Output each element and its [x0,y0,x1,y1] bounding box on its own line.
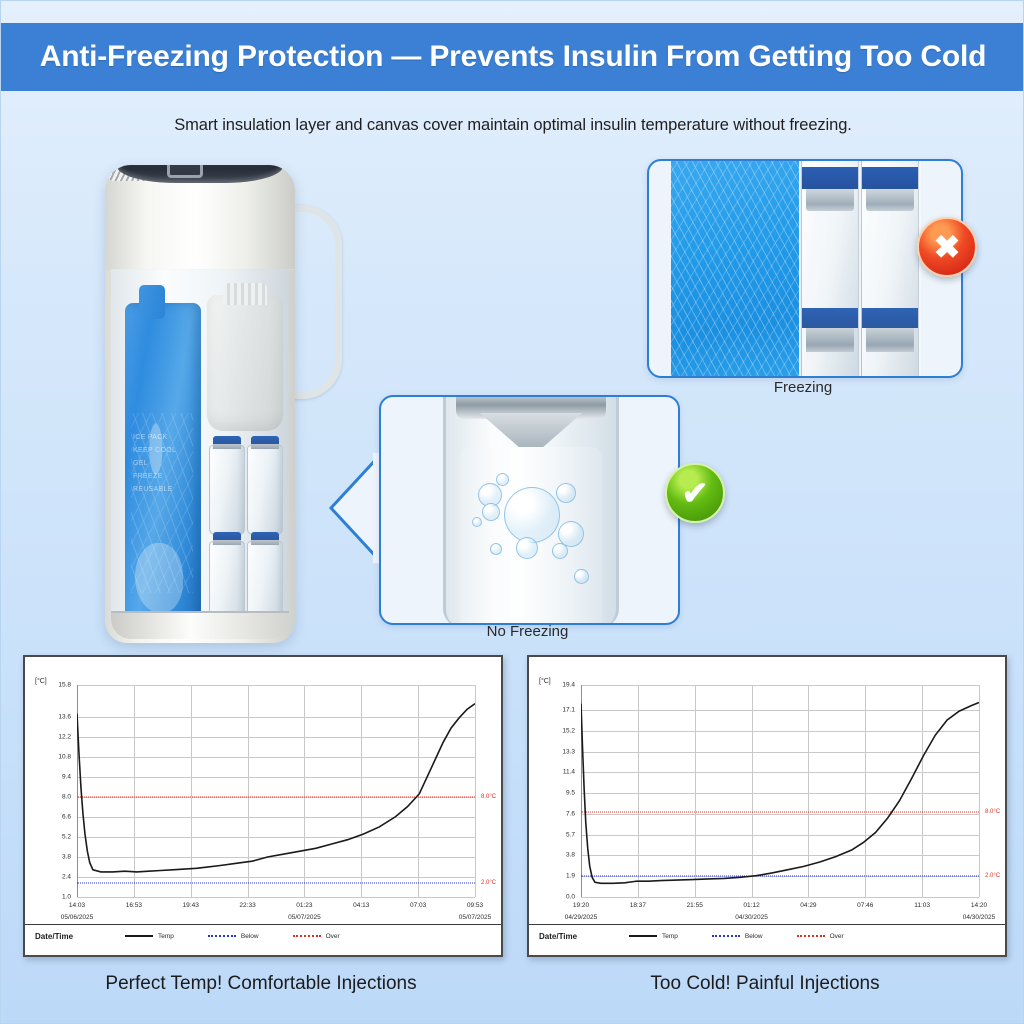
subtitle-text: Smart insulation layer and canvas cover … [1,116,1024,135]
legend-axis-title: Date/Time [539,932,629,941]
x-axis-tick-label: 16:53 [126,902,142,909]
bubble-icon [504,487,560,543]
gridline-vertical [475,685,476,897]
temperature-series-line [581,685,979,897]
y-axis-tick-label: 3.8 [62,853,71,860]
callout-arrow-icon [323,453,381,563]
temperature-chart-left: [°C]15.813.612.210.89.48.06.65.23.82.41.… [23,655,503,957]
no-freezing-panel [379,395,680,625]
cross-glyph: ✖ [934,231,961,263]
lid-clip-icon [167,165,203,178]
threshold-label-below: 2.0°C [985,873,1000,879]
y-axis-tick-label: 7.6 [566,810,575,817]
threshold-label-over: 8.0°C [481,794,496,800]
legend-swatch [797,935,825,937]
vial-cap [862,308,918,328]
vial-cap [862,167,918,189]
chart-plot-area: 19.417.115.213.311.49.57.65.73.81.90.019… [581,685,979,897]
x-axis-tick-label: 04:29 [800,902,816,909]
y-axis-tick-label: 9.4 [62,773,71,780]
legend-axis-title: Date/Time [35,932,125,941]
legend-swatch [629,935,657,937]
y-axis-tick-label: 5.2 [62,833,71,840]
legend-swatch [208,935,236,937]
bottle-funnel [480,413,582,447]
x-axis-tick-label: 19:2004/29/2025 [565,902,598,921]
cooler-body: ICE PACKKEEP COOLGELFREEZEREUSABLE [105,165,295,643]
ice-gel-blob [135,543,183,613]
threshold-label-below: 2.0°C [481,880,496,886]
x-axis-tick-label: 22:33 [239,902,255,909]
y-axis-tick-label: 9.5 [566,790,575,797]
legend-label: Below [745,933,763,940]
legend-item-over: Over [293,933,340,940]
x-axis-tick-label: 07:46 [857,902,873,909]
y-axis-tick-label: 13.6 [58,713,71,720]
y-axis-tick-label: 19.4 [562,682,575,689]
y-axis-tick-label: 5.7 [566,831,575,838]
x-axis-tick-label: 04:13 [353,902,369,909]
legend-swatch [293,935,321,937]
y-axis-tick-label: 15.2 [562,727,575,734]
legend-item-over: Over [797,933,844,940]
legend-swatch [712,935,740,937]
x-axis-tick-label: 18:37 [630,902,646,909]
vial-neck [806,189,854,211]
y-axis-tick-label: 10.8 [58,753,71,760]
bubble-icon [496,473,509,486]
temperature-chart-right: [°C]19.417.115.213.311.49.57.65.73.81.90… [527,655,1007,957]
y-axis-tick-label: 13.3 [562,748,575,755]
cooler-lid [105,165,295,270]
bag-drawstring [223,283,267,305]
ice-pack-label: ICE PACKKEEP COOLGELFREEZEREUSABLE [133,431,193,496]
y-axis-tick-label: 8.0 [62,793,71,800]
bubble-icon [472,517,482,527]
y-axis-tick-label: 17.1 [562,707,575,714]
insulin-vial [209,445,245,535]
frozen-vial [861,161,919,376]
legend-item-temp: Temp [629,933,678,940]
frozen-vials-group [799,161,921,376]
legend-item-below: Below [712,933,763,940]
bubble-icon [552,543,568,559]
y-axis-tick-label: 2.4 [62,873,71,880]
threshold-label-over: 8.0°C [985,809,1000,815]
temperature-series-line [77,685,475,897]
gridline-horizontal [581,897,979,898]
check-glyph: ✔ [682,477,709,509]
y-axis-tick-label: 11.4 [563,769,575,776]
bubble-icon [574,569,589,584]
x-axis-tick-label: 01:1204/30/2025 [735,902,768,921]
y-axis-tick-label: 1.9 [566,873,575,880]
legend-label: Below [241,933,259,940]
insulin-vial [247,445,283,535]
bubble-icon [516,537,538,559]
gridline-vertical [979,685,980,897]
chart-legend: Date/TimeTempBelowOver [25,924,501,947]
vial-neck [866,189,914,211]
vial-neck [806,328,854,352]
vial-cap [802,308,858,328]
page-title: Anti-Freezing Protection — Prevents Insu… [40,40,986,74]
legend-swatch [125,935,153,937]
bottle-liquid [460,447,602,625]
ice-pack: ICE PACKKEEP COOLGELFREEZEREUSABLE [125,303,201,621]
legend-item-below: Below [208,933,259,940]
x-axis-tick-label: 09:5305/07/2025 [459,902,492,921]
no-freezing-caption: No Freezing [379,623,676,640]
x-axis-tick-label: 14:2004/30/2025 [963,902,996,921]
chart-unit-label: [°C] [35,678,47,685]
gridline-horizontal [77,897,475,898]
chart-legend: Date/TimeTempBelowOver [529,924,1005,947]
x-axis-tick-label: 11:03 [914,902,930,909]
y-axis-tick-label: 12.2 [58,733,71,740]
insulin-cooler-product-image: ICE PACKKEEP COOLGELFREEZEREUSABLE [97,147,342,647]
chart-unit-label: [°C] [539,678,551,685]
chart-right-caption: Too Cold! Painful Injections [527,973,1003,995]
legend-label: Temp [158,933,174,940]
x-axis-tick-label: 01:2305/07/2025 [288,902,321,921]
x-axis-tick-label: 19:43 [183,902,199,909]
liquid-insulin-bottle [443,395,619,625]
x-axis-tick-label: 07:03 [410,902,426,909]
bubble-icon [490,543,502,555]
header-banner: Anti-Freezing Protection — Prevents Insu… [1,23,1024,91]
legend-label: Over [326,933,340,940]
legend-label: Over [830,933,844,940]
bubble-icon [556,483,576,503]
vial-neck [866,328,914,352]
y-axis-tick-label: 3.8 [566,852,575,859]
check-icon: ✔ [665,463,725,523]
y-axis-tick-label: 15.8 [58,682,71,689]
cooler-base [111,611,289,639]
chart-left-caption: Perfect Temp! Comfortable Injections [23,973,499,995]
legend-item-temp: Temp [125,933,174,940]
bubble-icon [482,503,500,521]
y-axis-tick-label: 0.0 [566,894,575,901]
freezing-panel [647,159,963,378]
canvas-cover-bag [207,295,283,431]
product-infographic: Anti-Freezing Protection — Prevents Insu… [0,0,1024,1024]
y-axis-tick-label: 1.0 [62,894,71,901]
cooler-interior-window: ICE PACKKEEP COOLGELFREEZEREUSABLE [111,269,289,625]
legend-label: Temp [662,933,678,940]
x-axis-tick-label: 14:0305/06/2025 [61,902,94,921]
x-axis-tick-label: 21:55 [687,902,703,909]
frozen-vial [801,161,859,376]
vial-cap [802,167,858,189]
freezing-caption: Freezing [647,379,959,396]
frozen-ice-sheet [671,161,799,376]
y-axis-tick-label: 6.6 [62,813,71,820]
chart-plot-area: 15.813.612.210.89.48.06.65.23.82.41.014:… [77,685,475,897]
cross-icon: ✖ [917,217,977,277]
